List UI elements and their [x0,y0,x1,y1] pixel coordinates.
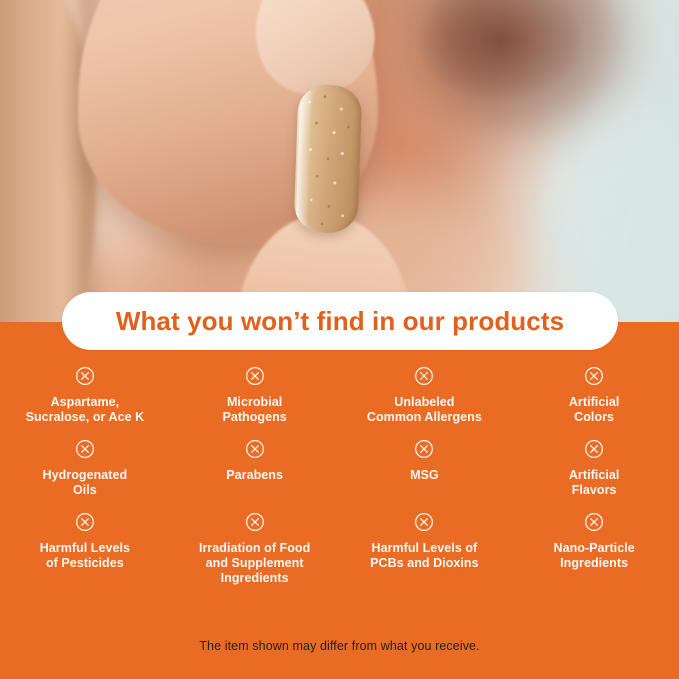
claim-item-msg: MSG [340,439,510,498]
circle-x-icon [414,512,434,532]
claim-label: Harmful Levelsof Pesticides [40,541,130,571]
circle-x-icon [245,439,265,459]
claim-label: HydrogenatedOils [43,468,128,498]
claim-item-harmful-levels-of-pcbs-and-dioxins: Harmful Levels ofPCBs and Dioxins [340,512,510,586]
claim-label: UnlabeledCommon Allergens [367,395,482,425]
circle-x-icon [414,366,434,386]
claim-label: Irradiation of Foodand SupplementIngredi… [199,541,310,586]
circle-x-icon [245,512,265,532]
out-of-focus-finger-left [0,0,96,322]
claim-item-artificial-colors: ArtificialColors [509,366,679,425]
claim-item-aspartame-sucralose-ace-k: Aspartame,Sucralose, or Ace K [0,366,170,425]
claim-item-nano-particle-ingredients: Nano-ParticleIngredients [509,512,679,586]
circle-x-icon [75,439,95,459]
product-claims-infographic: What you won’t find in our products Aspa… [0,0,679,679]
claim-item-unlabeled-common-allergens: UnlabeledCommon Allergens [340,366,510,425]
claim-label: Parabens [226,468,283,483]
heading-pill: What you won’t find in our products [62,292,618,350]
claim-label: MicrobialPathogens [222,395,286,425]
heading-part-2: find in our products [309,306,564,336]
claim-item-microbial-pathogens: MicrobialPathogens [170,366,340,425]
claim-item-artificial-flavors: ArtificialFlavors [509,439,679,498]
claim-label: Harmful Levels ofPCBs and Dioxins [370,541,478,571]
claim-label: ArtificialFlavors [569,468,620,498]
claim-label: Nano-ParticleIngredients [554,541,635,571]
product-photo [0,0,679,322]
page-title: What you won’t find in our products [116,306,564,337]
tablet-speckle-texture [293,84,362,234]
circle-x-icon [75,512,95,532]
claim-item-parabens: Parabens [170,439,340,498]
claim-label: Aspartame,Sucralose, or Ace K [26,395,145,425]
circle-x-icon [245,366,265,386]
circle-x-icon [584,512,604,532]
circle-x-icon [75,366,95,386]
claim-item-hydrogenated-oils: HydrogenatedOils [0,439,170,498]
supplement-tablet [293,84,362,234]
claim-label: ArtificialColors [569,395,620,425]
claim-item-harmful-levels-of-pesticides: Harmful Levelsof Pesticides [0,512,170,586]
claim-label: MSG [410,468,439,483]
circle-x-icon [584,366,604,386]
claims-grid: Aspartame,Sucralose, or Ace KMicrobialPa… [0,366,679,586]
circle-x-icon [414,439,434,459]
heading-emphasis: won’t [241,306,309,336]
heading-part-1: What you [116,306,241,336]
circle-x-icon [584,439,604,459]
disclaimer-note: The item shown may differ from what you … [0,639,679,653]
claim-item-irradiation-of-food-and-supplement-ingredients: Irradiation of Foodand SupplementIngredi… [170,512,340,586]
